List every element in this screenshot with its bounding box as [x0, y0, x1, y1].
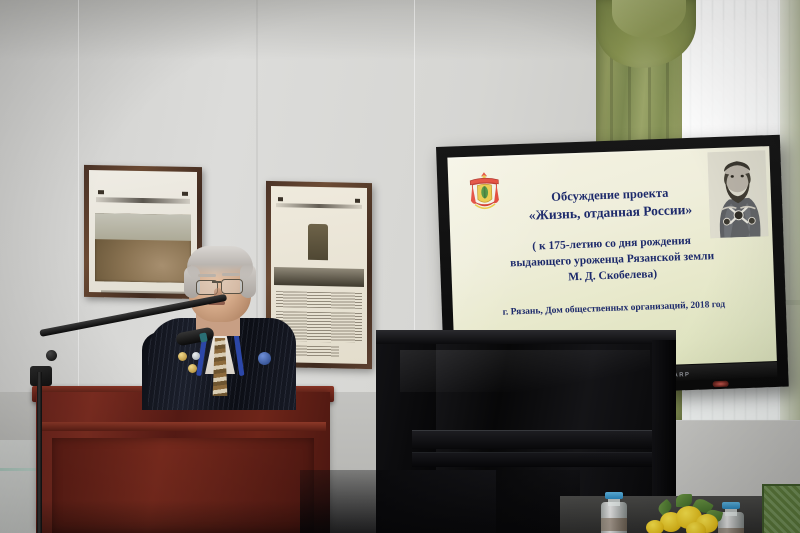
- poster-ornament-right: [182, 192, 188, 196]
- monument-photograph: [274, 216, 363, 287]
- tv-power-led: [713, 381, 729, 388]
- piano-fallboard: [412, 430, 664, 449]
- conference-presentation-photo: Обсуждение проекта «Жизнь, отданная Росс…: [0, 0, 800, 533]
- piano-lid: [376, 330, 676, 344]
- speaker-eyebrow-left: [198, 274, 216, 277]
- microphone-stand-pole: [37, 372, 42, 533]
- monument-statue: [308, 224, 328, 260]
- podium-shadow: [36, 500, 330, 533]
- eyeglass-bridge: [212, 281, 221, 283]
- piano-keybed: [412, 452, 664, 467]
- poster-ornament-right: [355, 199, 360, 203]
- lapel-badge-silver: [192, 352, 200, 360]
- chrysanthemum-5: [686, 522, 706, 533]
- water-bottle-left[interactable]: [601, 492, 627, 533]
- photo-crowd: [274, 267, 363, 287]
- microphone-accent-band: [199, 332, 208, 342]
- poster-ornament-left: [278, 197, 283, 201]
- bottle-label: [601, 518, 627, 531]
- wall-panel-seam-2: [256, 0, 258, 320]
- lapel-badge-gold-1: [178, 352, 187, 361]
- microphone-adjust-knob[interactable]: [46, 350, 57, 361]
- piano-reflection: [400, 350, 650, 392]
- eyeglass-lens-right: [221, 279, 243, 294]
- green-chair-back[interactable]: [762, 484, 800, 533]
- lapel-badge-blue: [258, 352, 271, 365]
- slide-footer: г. Рязань, Дом общественных организаций,…: [453, 298, 775, 320]
- chrysanthemum-4: [646, 520, 664, 533]
- lapel-badge-gold-2: [188, 364, 197, 373]
- poster-caption-rule: [101, 290, 186, 295]
- speaker-eyebrow-right: [222, 273, 240, 276]
- speaker-hair-top: [187, 246, 253, 280]
- foreground-shadow: [300, 470, 580, 533]
- podium-trim-band: [40, 422, 326, 431]
- painting-sky: [95, 213, 192, 241]
- bottle-cap: [605, 492, 623, 499]
- flower-bouquet: [636, 498, 732, 533]
- poster-ornament-left: [98, 190, 104, 194]
- poster-text-block-1: [276, 291, 363, 310]
- battle-painting: [95, 213, 192, 283]
